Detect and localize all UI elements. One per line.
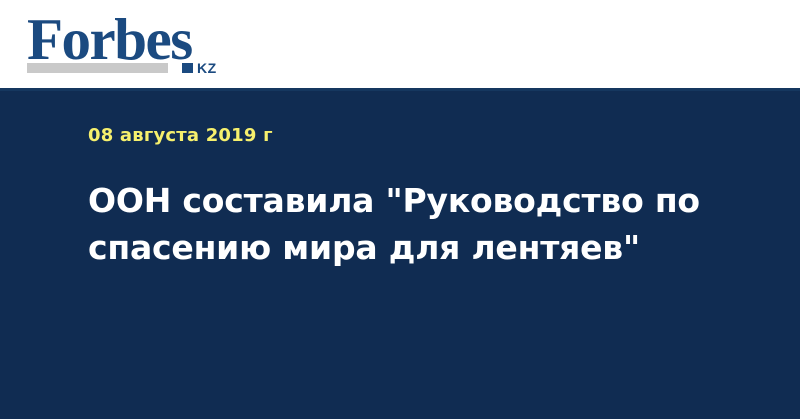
article-hero: 08 августа 2019 г ООН составила "Руковод… [0, 88, 800, 419]
forbes-wordmark: Forbes [27, 10, 192, 69]
article-headline[interactable]: ООН составила "Руководство по спасению м… [88, 177, 728, 271]
site-header: Forbes KZ [0, 0, 800, 88]
article-date: 08 августа 2019 г [88, 125, 273, 147]
logo-tld-label: KZ [197, 61, 217, 75]
article-card: Forbes KZ 08 августа 2019 г ООН составил… [0, 0, 800, 419]
logo-rule [27, 63, 168, 73]
logo-square-icon [182, 63, 193, 73]
forbes-kz-logo[interactable]: Forbes KZ [27, 10, 257, 80]
